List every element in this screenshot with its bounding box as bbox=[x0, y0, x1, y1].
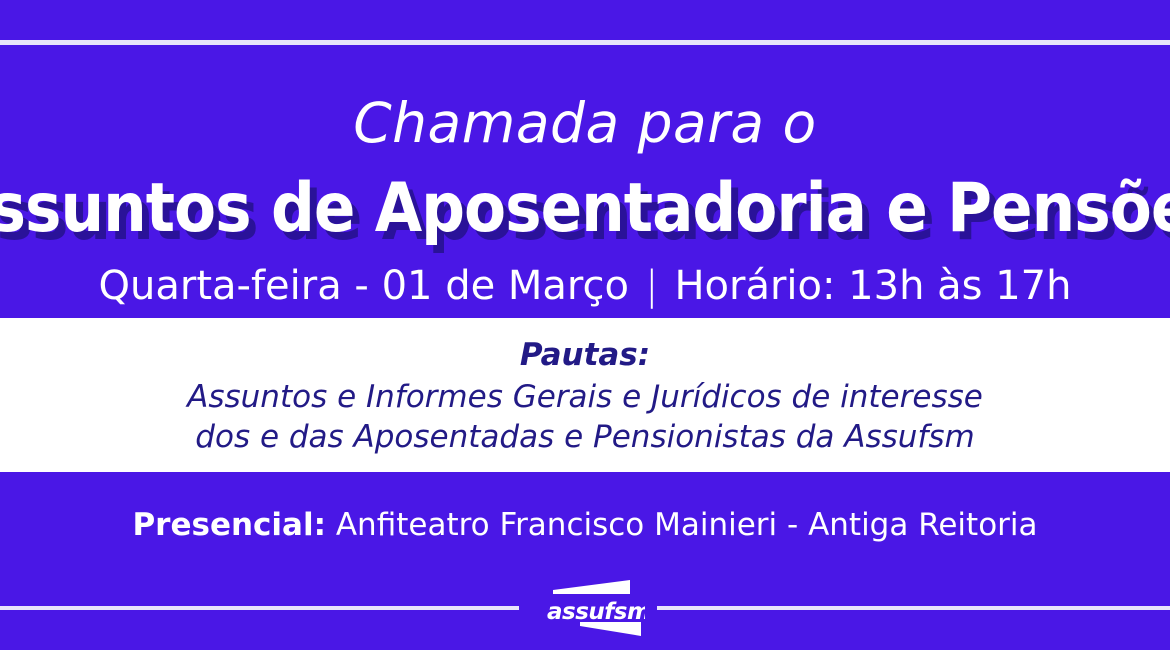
agenda-line-1: Assuntos e Informes Gerais e Jurídicos d… bbox=[0, 382, 1170, 413]
footer-rule-left bbox=[0, 606, 519, 610]
logo-wedge-top bbox=[553, 580, 630, 594]
assufsm-logo: assufsm bbox=[535, 578, 645, 640]
venue-line: Presencial: Anfiteatro Francisco Mainier… bbox=[0, 510, 1170, 541]
kicker-text: Chamada para o bbox=[0, 96, 1170, 151]
agenda-heading: Pautas: bbox=[0, 340, 1170, 371]
assufsm-logo-mark: assufsm bbox=[535, 578, 645, 640]
date-time-line: Quarta-feira - 01 de Março|Horário: 13h … bbox=[0, 262, 1170, 310]
footer-rule-right bbox=[657, 606, 1170, 610]
date-time-separator: | bbox=[629, 262, 674, 310]
venue-value: Anfiteatro Francisco Mainieri - Antiga R… bbox=[336, 507, 1038, 543]
headline-container: Assuntos de Aposentadoria e Pensões bbox=[0, 163, 1170, 255]
logo-wordmark: assufsm bbox=[547, 599, 645, 625]
agenda-line-2: dos e das Aposentadas e Pensionistas da … bbox=[0, 422, 1170, 453]
agenda-band: Pautas: Assuntos e Informes Gerais e Jur… bbox=[0, 318, 1170, 472]
event-date: Quarta-feira - 01 de Março bbox=[99, 263, 629, 309]
page-title: Assuntos de Aposentadoria e Pensões bbox=[0, 163, 1170, 255]
event-poster: Chamada para o Assuntos de Aposentadoria… bbox=[0, 0, 1170, 650]
venue-label: Presencial: bbox=[132, 507, 326, 543]
top-divider-rule bbox=[0, 40, 1170, 45]
event-time: Horário: 13h às 17h bbox=[674, 263, 1071, 309]
